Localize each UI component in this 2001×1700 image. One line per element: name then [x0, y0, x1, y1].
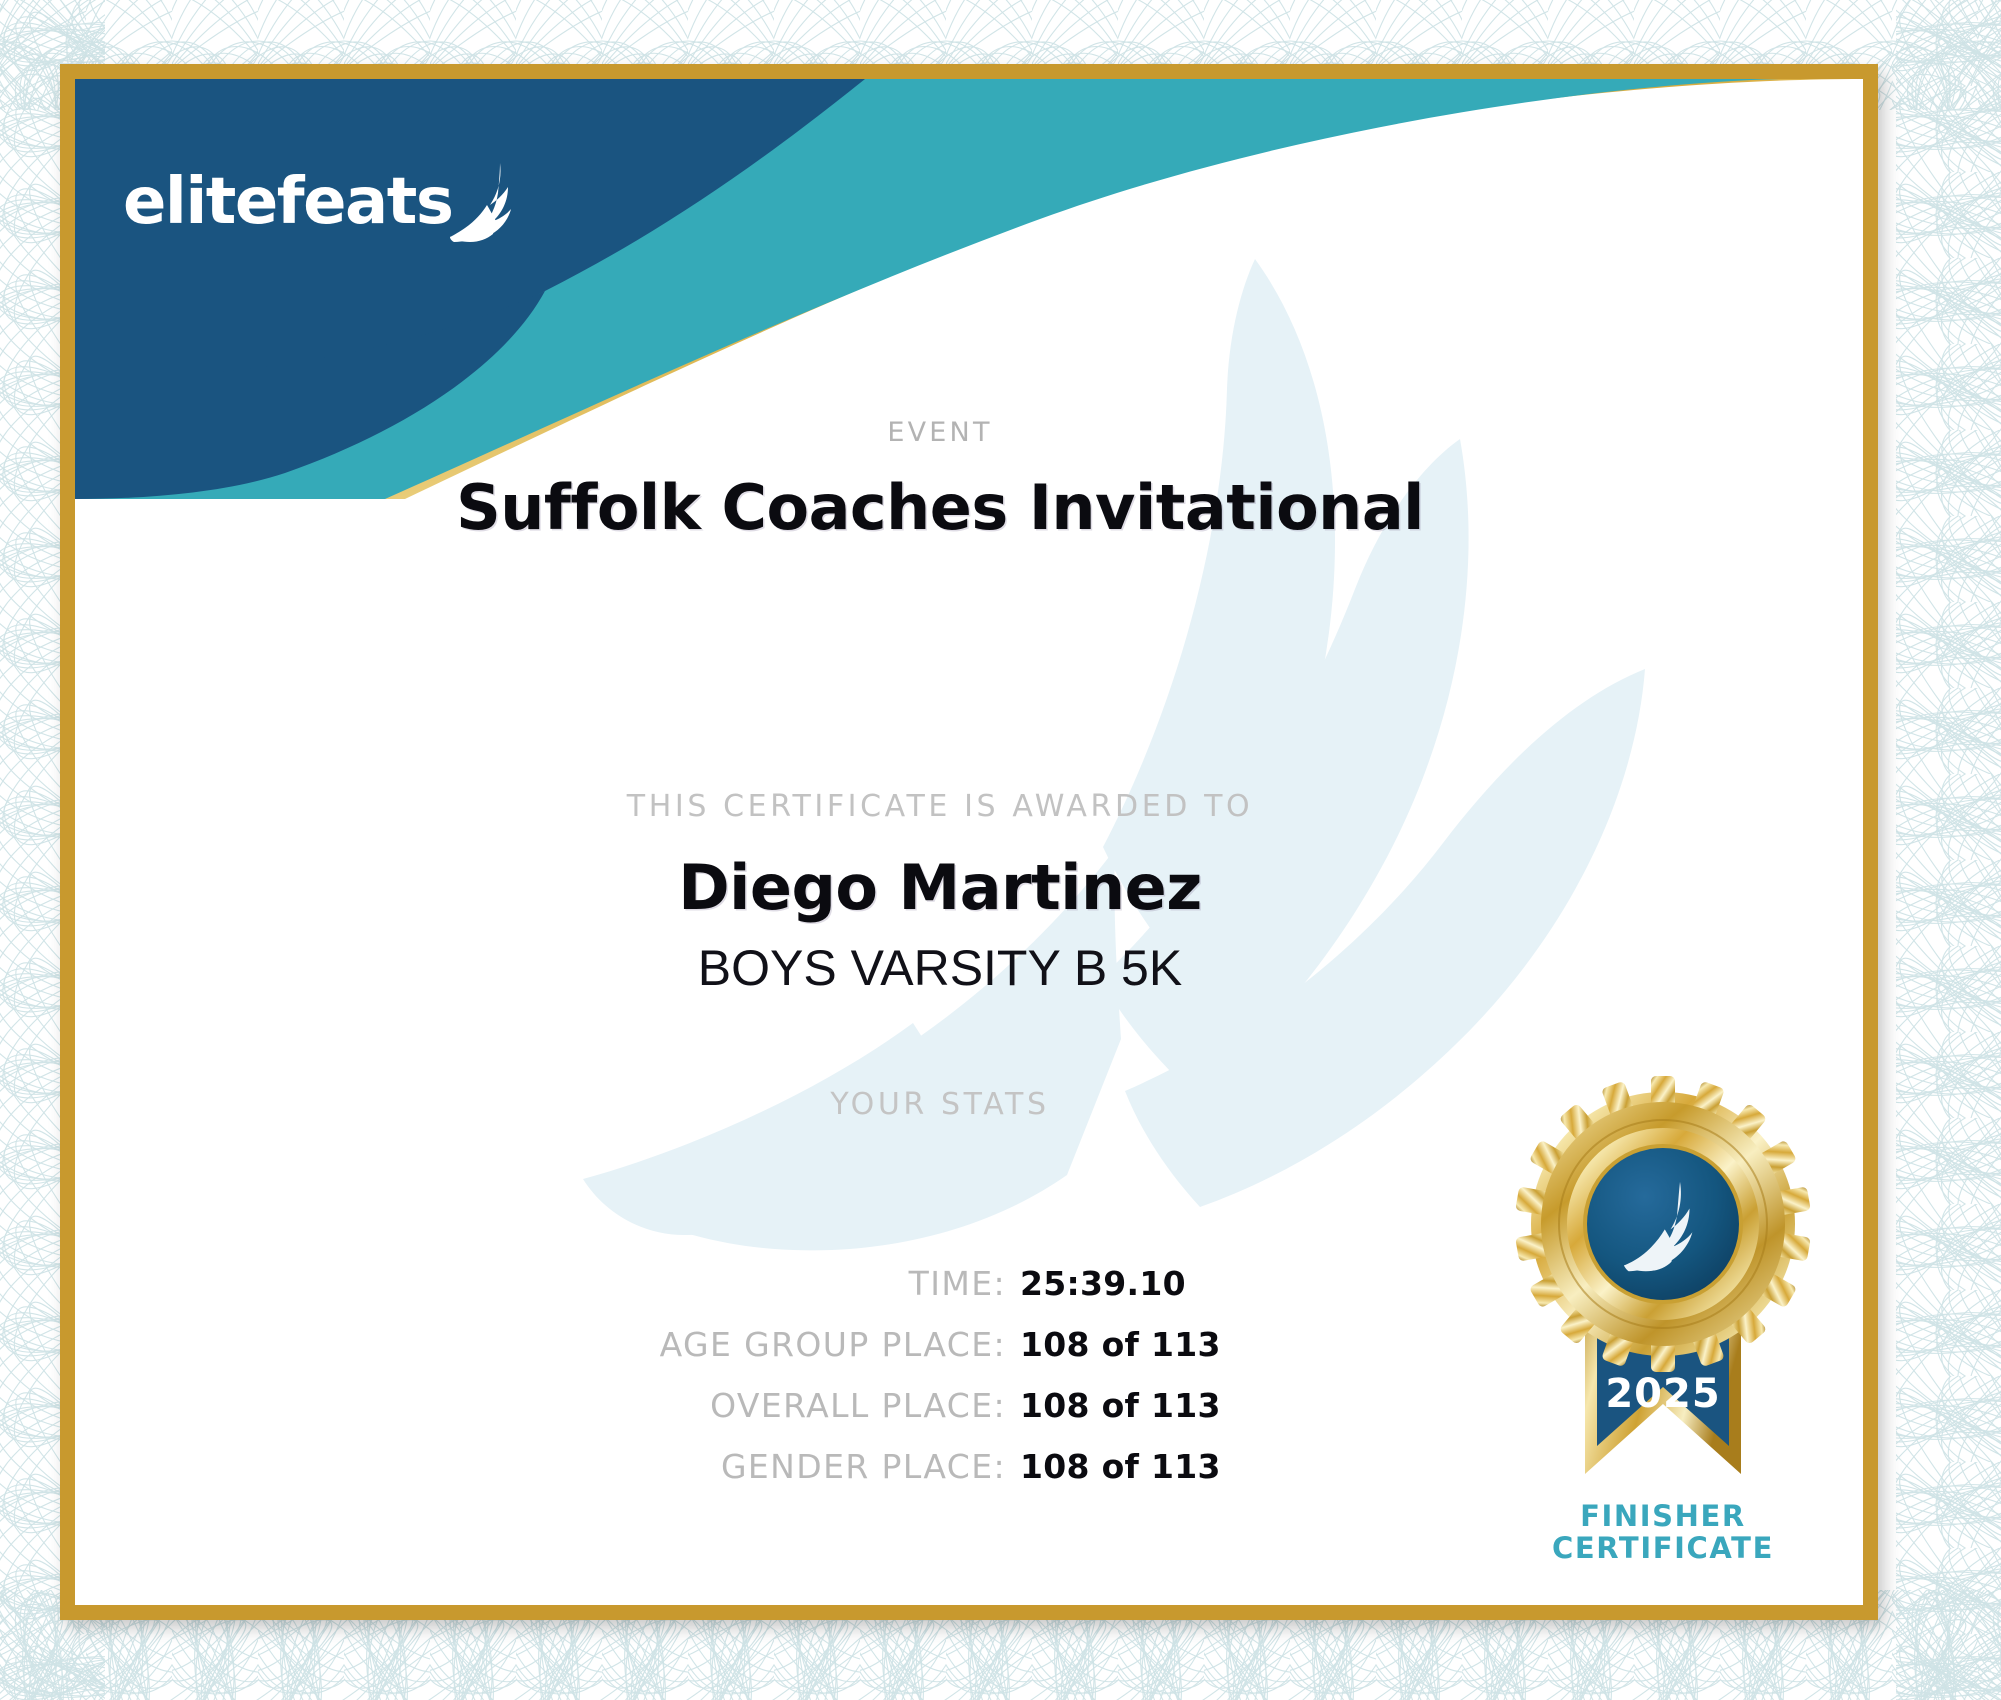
seal-caption-line2: CERTIFICATE: [1513, 1532, 1813, 1564]
finisher-seal: 2025 FINISHER CERTIFICATE: [1513, 1074, 1813, 1565]
stat-label-gender-place: GENDER PLACE:: [460, 1447, 1020, 1486]
brand-logo: elitefeats: [123, 157, 524, 247]
division-name: BOYS VARSITY B 5K: [75, 939, 1805, 997]
certificate-card: elitefeats: [60, 64, 1878, 1620]
event-label: EVENT: [75, 417, 1805, 448]
seal-caption: FINISHER CERTIFICATE: [1513, 1500, 1813, 1565]
stat-value-gender-place: 108 of 113: [1020, 1447, 1420, 1486]
recipient-name: Diego Martinez: [75, 851, 1805, 924]
stat-label-overall-place: OVERALL PLACE:: [460, 1386, 1020, 1425]
winged-foot-icon: [446, 161, 524, 247]
seal-year: 2025: [1605, 1371, 1720, 1417]
stat-value-time: 25:39.10: [1020, 1264, 1420, 1303]
stat-value-overall-place: 108 of 113: [1020, 1386, 1420, 1425]
stat-label-age-group-place: AGE GROUP PLACE:: [460, 1325, 1020, 1364]
brand-logo-text: elitefeats: [123, 170, 452, 234]
awarded-to-label: THIS CERTIFICATE IS AWARDED TO: [75, 789, 1805, 824]
medal-ribbon-icon: 2025: [1513, 1074, 1813, 1494]
seal-caption-line1: FINISHER: [1513, 1500, 1813, 1532]
stat-value-age-group-place: 108 of 113: [1020, 1325, 1420, 1364]
certificate-page: elitefeats: [0, 0, 2001, 1700]
event-title: Suffolk Coaches Invitational: [75, 471, 1805, 544]
stat-label-time: TIME:: [460, 1264, 1020, 1303]
